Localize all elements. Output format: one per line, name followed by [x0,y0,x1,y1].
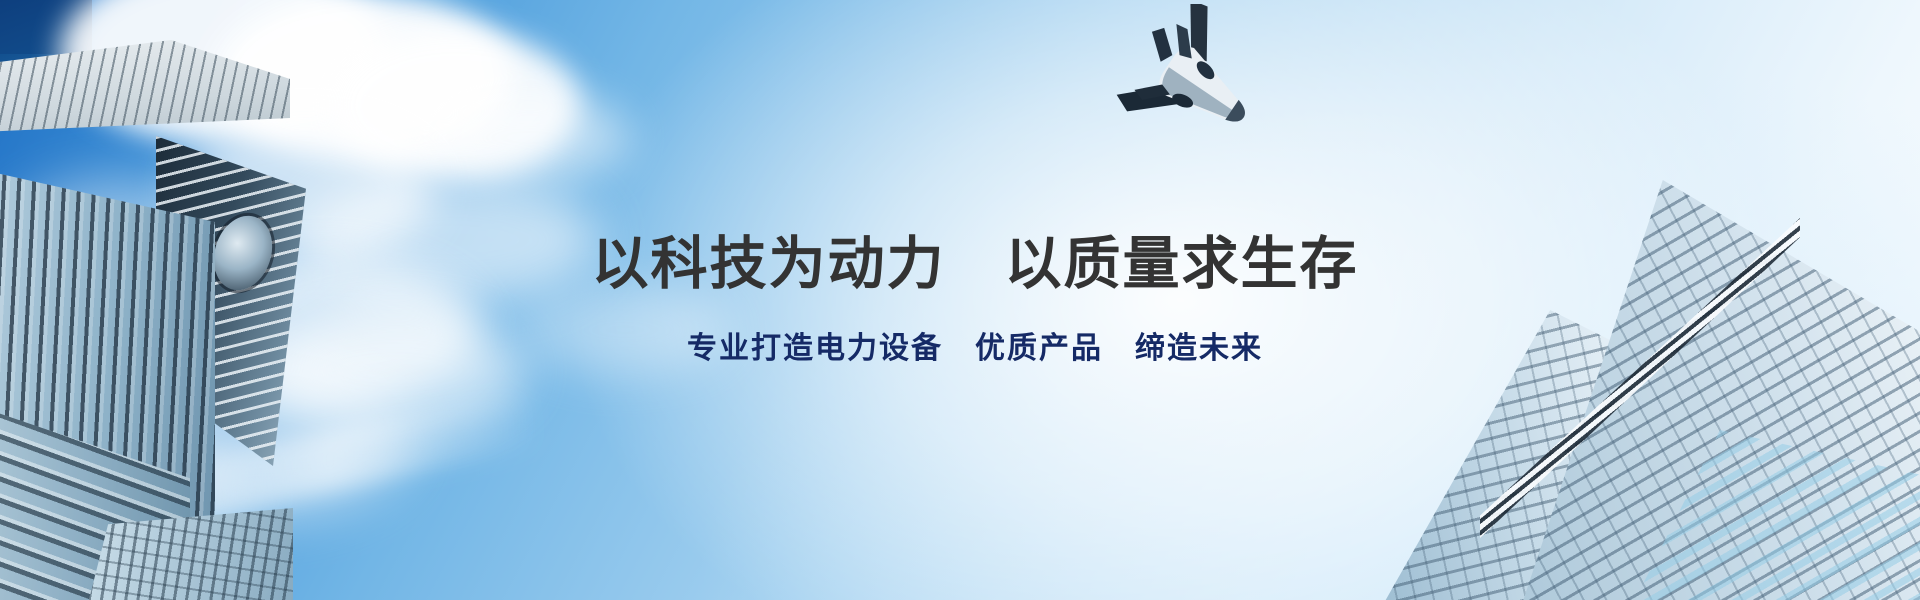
banner-text-block: 以科技为动力 以质量求生存 专业打造电力设备 优质产品 缔造未来 [0,0,1920,600]
banner-headline: 以科技为动力 以质量求生存 [592,233,1359,296]
banner-subheadline: 专业打造电力设备 优质产品 缔造未来 [687,331,1263,367]
hero-banner: 以科技为动力 以质量求生存 专业打造电力设备 优质产品 缔造未来 [0,0,1920,600]
